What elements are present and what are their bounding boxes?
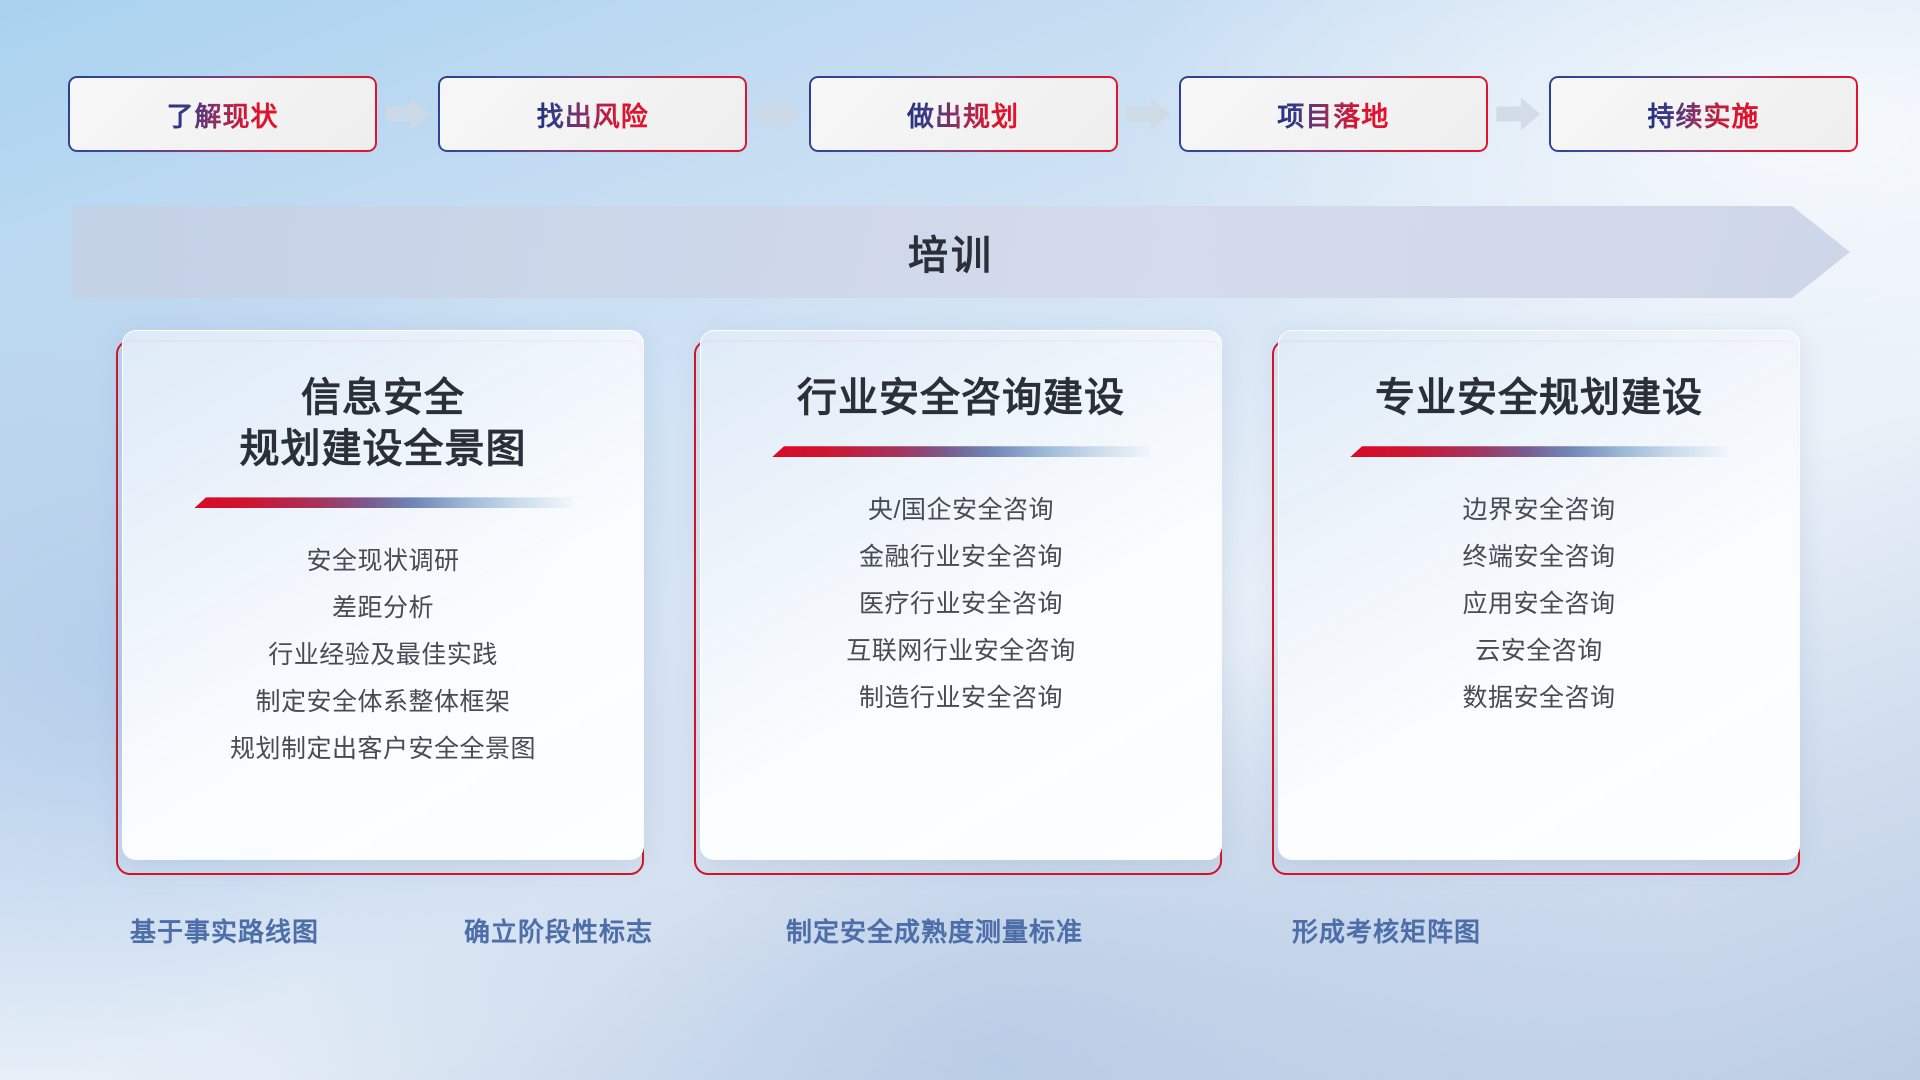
list-item: 央/国企安全咨询 <box>701 487 1221 534</box>
process-step-label: 了解现状 <box>167 95 279 134</box>
list-item: 行业经验及最佳实践 <box>123 632 643 679</box>
card-panel: 信息安全 规划建设全景图 安全现状调研 差距分析 行业经验及最佳实践 制定安全体… <box>122 330 644 860</box>
card-item-list: 安全现状调研 差距分析 行业经验及最佳实践 制定安全体系整体框架 规划制定出客户… <box>123 538 643 773</box>
process-step-label: 做出规划 <box>907 95 1019 134</box>
card-title: 信息安全 规划建设全景图 <box>123 373 643 475</box>
list-item: 互联网行业安全咨询 <box>701 628 1221 675</box>
bottom-label-2: 制定安全成熟度测量标准 <box>786 912 1083 949</box>
arrow-right-icon <box>1486 94 1551 134</box>
card-title-line2: 规划建设全景图 <box>141 424 625 475</box>
arrow-right-icon <box>745 94 810 134</box>
list-item: 安全现状调研 <box>123 538 643 585</box>
content-card-2[interactable]: 专业安全规划建设 边界安全咨询 终端安全咨询 应用安全咨询 云安全咨询 数据安全… <box>1272 330 1800 875</box>
list-item: 数据安全咨询 <box>1279 675 1799 722</box>
list-item: 规划制定出客户安全全景图 <box>123 726 643 773</box>
card-title: 专业安全规划建设 <box>1279 373 1799 424</box>
banner-title: 培训 <box>908 223 994 281</box>
list-item: 制造行业安全咨询 <box>701 675 1221 722</box>
bottom-label-3: 形成考核矩阵图 <box>1292 912 1481 949</box>
card-title-line1: 专业安全规划建设 <box>1375 376 1703 420</box>
process-step-1[interactable]: 找出风险 <box>440 78 745 150</box>
list-item: 应用安全咨询 <box>1279 581 1799 628</box>
card-panel: 行业安全咨询建设 央/国企安全咨询 金融行业安全咨询 医疗行业安全咨询 互联网行… <box>700 330 1222 860</box>
list-item: 终端安全咨询 <box>1279 534 1799 581</box>
arrow-right-icon <box>375 94 440 134</box>
process-step-2[interactable]: 做出规划 <box>811 78 1116 150</box>
bottom-label-0: 基于事实路线图 <box>130 912 319 949</box>
process-step-label: 找出风险 <box>537 95 649 134</box>
training-banner-arrow: 培训 <box>72 206 1850 298</box>
card-divider <box>1350 446 1728 457</box>
content-card-1[interactable]: 行业安全咨询建设 央/国企安全咨询 金融行业安全咨询 医疗行业安全咨询 互联网行… <box>694 330 1222 875</box>
card-row: 信息安全 规划建设全景图 安全现状调研 差距分析 行业经验及最佳实践 制定安全体… <box>0 330 1920 875</box>
content-card-0[interactable]: 信息安全 规划建设全景图 安全现状调研 差距分析 行业经验及最佳实践 制定安全体… <box>116 330 644 875</box>
slide-root: 了解现状 找出风险 做出规划 项目落地 持续实施 培训 信息安全 规 <box>0 0 1920 1080</box>
card-divider <box>772 446 1150 457</box>
arrow-right-icon <box>1116 94 1181 134</box>
card-title-line1: 行业安全咨询建设 <box>797 376 1125 420</box>
list-item: 医疗行业安全咨询 <box>701 581 1221 628</box>
list-item: 制定安全体系整体框架 <box>123 679 643 726</box>
process-step-label: 项目落地 <box>1277 95 1389 134</box>
list-item: 差距分析 <box>123 585 643 632</box>
process-step-4[interactable]: 持续实施 <box>1551 78 1856 150</box>
process-step-row: 了解现状 找出风险 做出规划 项目落地 持续实施 <box>70 78 1856 150</box>
card-title-line1: 信息安全 <box>301 376 465 420</box>
card-item-list: 央/国企安全咨询 金融行业安全咨询 医疗行业安全咨询 互联网行业安全咨询 制造行… <box>701 487 1221 722</box>
card-divider <box>194 497 572 508</box>
card-title: 行业安全咨询建设 <box>701 373 1221 424</box>
bottom-label-1: 确立阶段性标志 <box>464 912 653 949</box>
process-step-0[interactable]: 了解现状 <box>70 78 375 150</box>
bottom-label-row: 基于事实路线图 确立阶段性标志 制定安全成熟度测量标准 形成考核矩阵图 <box>0 912 1920 958</box>
process-step-label: 持续实施 <box>1648 95 1760 134</box>
list-item: 边界安全咨询 <box>1279 487 1799 534</box>
list-item: 金融行业安全咨询 <box>701 534 1221 581</box>
card-item-list: 边界安全咨询 终端安全咨询 应用安全咨询 云安全咨询 数据安全咨询 <box>1279 487 1799 722</box>
list-item: 云安全咨询 <box>1279 628 1799 675</box>
card-panel: 专业安全规划建设 边界安全咨询 终端安全咨询 应用安全咨询 云安全咨询 数据安全… <box>1278 330 1800 860</box>
process-step-3[interactable]: 项目落地 <box>1181 78 1486 150</box>
